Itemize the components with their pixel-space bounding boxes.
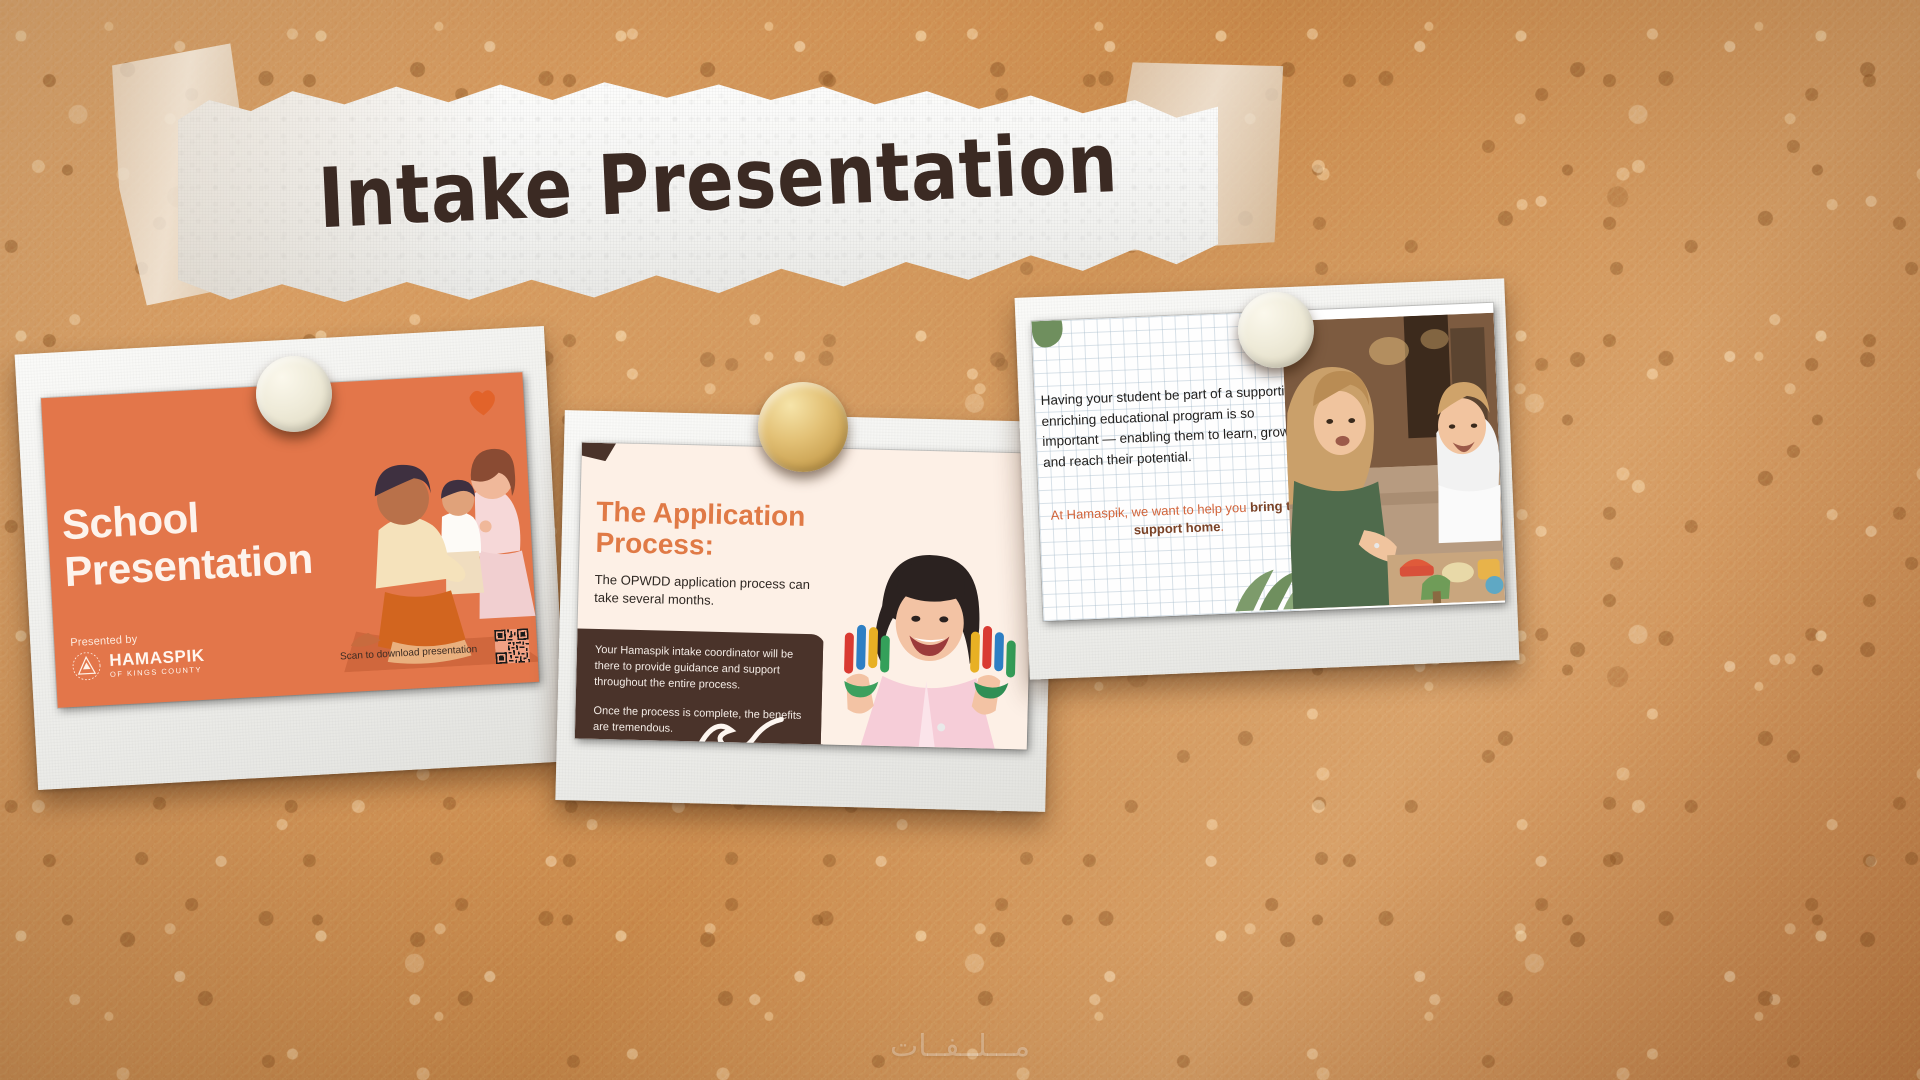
teacher-and-child-photo (1282, 313, 1505, 609)
hamaspik-mountain-logo-icon (71, 650, 103, 682)
hamaspik-logo: HAMASPIK OF KINGS COUNTY (71, 645, 206, 682)
leaf-decoration-top-icon (1031, 320, 1067, 361)
pin-cream-slide-3[interactable] (1238, 292, 1314, 368)
scribble-doodle-icon (695, 709, 806, 749)
cta-suffix: . (1220, 519, 1224, 534)
watermark: مـــلــفــات (0, 1029, 1920, 1064)
slide-3-paragraph: Having your student be part of a support… (1040, 380, 1311, 473)
slide-2-note-box: Your Hamaspik intake coordinator will be… (575, 628, 826, 744)
slide-2-subtitle: The OPWDD application process can take s… (594, 571, 825, 612)
corner-accent (582, 443, 616, 462)
pin-cream-slide-1[interactable] (256, 356, 332, 432)
presented-by-label: Presented by (70, 633, 138, 649)
slide-1-title: School Presentation (61, 484, 396, 596)
smiling-girl-photo (821, 528, 1032, 749)
hamaspik-logo-text: HAMASPIK OF KINGS COUNTY (109, 647, 206, 679)
note-paragraph-1: Your Hamaspik intake coordinator will be… (594, 643, 809, 696)
qr-code-icon[interactable] (494, 628, 530, 664)
banner: Intake Presentation (118, 22, 1298, 322)
pin-gold-slide-2[interactable] (758, 382, 848, 472)
slide-2-title: The Application Process: (595, 497, 846, 565)
slide-canvas-2: The Application Process: The OPWDD appli… (575, 443, 1034, 750)
